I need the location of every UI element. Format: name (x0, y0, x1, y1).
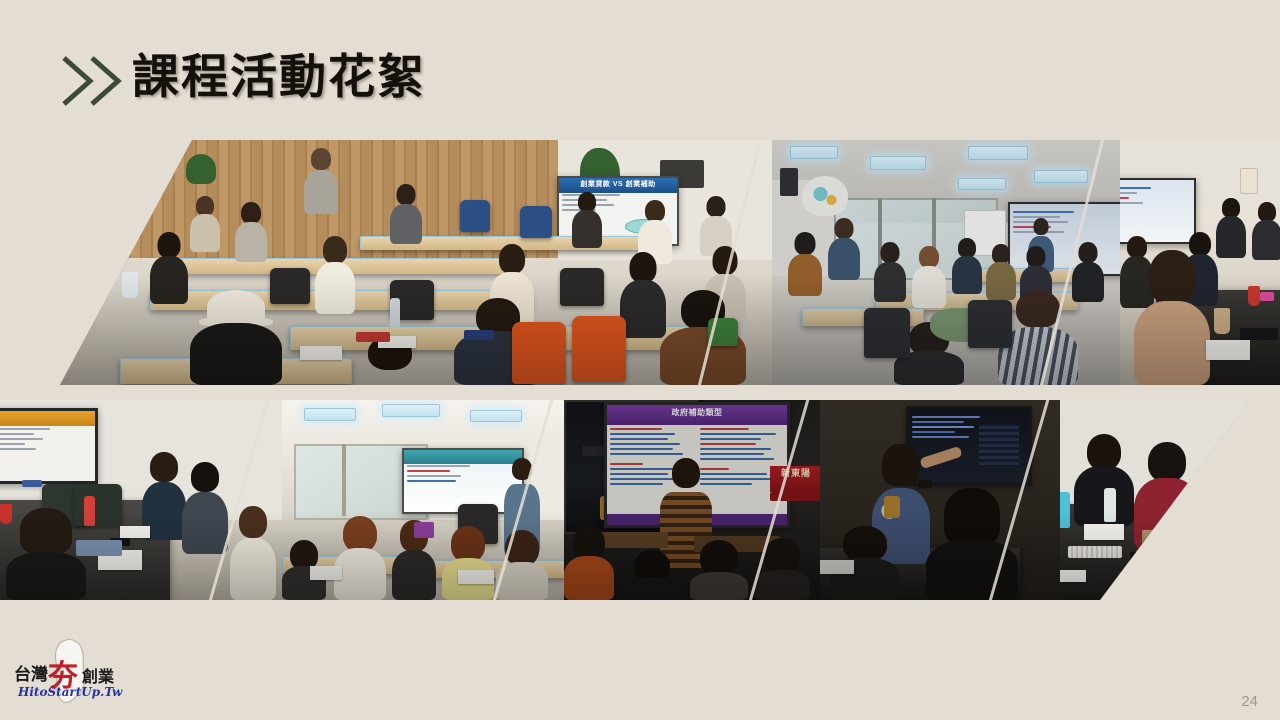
svg-text:HitoStartUp.Tw: HitoStartUp.Tw (17, 685, 123, 699)
page-title: 課程活動花絮 (132, 46, 426, 110)
slide-header: 課程活動花絮 (0, 0, 1280, 150)
slide-display-title-2 (0, 411, 95, 426)
slide-root: 課程活動花絮 創業貸款 VS 創業補助 (0, 0, 1280, 720)
page-number: 24 (1241, 693, 1258, 710)
photo-classroom-wood-lecture: 創業貸款 VS 創業補助 (60, 140, 772, 385)
shopfront-sign: 新東陽 (770, 466, 820, 492)
photo-dark-meeting-display (820, 400, 1060, 600)
photo-boardroom-monitor (0, 400, 282, 600)
slide-display-subsidy-title: 政府補助類型 (607, 405, 787, 425)
photo-night-venue-speaker: 政府補助類型 (564, 400, 820, 600)
photo-training-room-standing (282, 400, 564, 600)
double-chevron-right-icon (58, 52, 128, 110)
photo-attendees-red-shirt (1060, 400, 1250, 600)
hito-startup-logo: 台灣 夯 創業 HitoStartUp.Tw (8, 636, 168, 710)
photo-band-bottom: 政府補助類型 (0, 400, 1250, 600)
svg-text:創業: 創業 (81, 667, 115, 686)
photo-openoffice-seminar (772, 140, 1120, 385)
photo-meeting-room-table (1120, 140, 1280, 385)
svg-text:台灣: 台灣 (14, 664, 48, 685)
slide-display-title: 創業貸款 VS 創業補助 (559, 178, 677, 193)
photo-band-top: 創業貸款 VS 創業補助 (60, 140, 1280, 385)
